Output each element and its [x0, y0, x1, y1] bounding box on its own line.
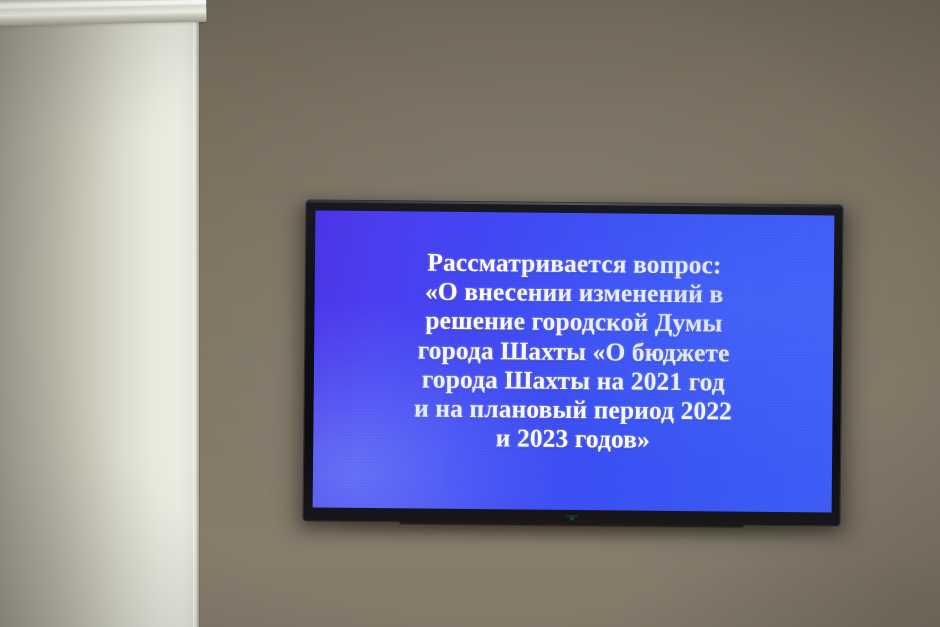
column-shading	[0, 0, 199, 627]
crown-molding	[0, 0, 207, 26]
molding-highlight	[0, 0, 206, 8]
wall-mounted-tv[interactable]: Рассматривается вопрос: «О внесении изме…	[303, 200, 842, 525]
photo-scene: Рассматривается вопрос: «О внесении изме…	[0, 0, 940, 627]
tv-bezel: Рассматривается вопрос: «О внесении изме…	[303, 200, 842, 525]
slide-line-7: и 2023 годов»	[313, 422, 832, 456]
presentation-slide-text: Рассматривается вопрос: «О внесении изме…	[313, 247, 834, 456]
tv-screen[interactable]: Рассматривается вопрос: «О внесении изме…	[313, 211, 835, 513]
column-edge-highlight	[193, 0, 200, 627]
wall-column	[0, 0, 199, 627]
